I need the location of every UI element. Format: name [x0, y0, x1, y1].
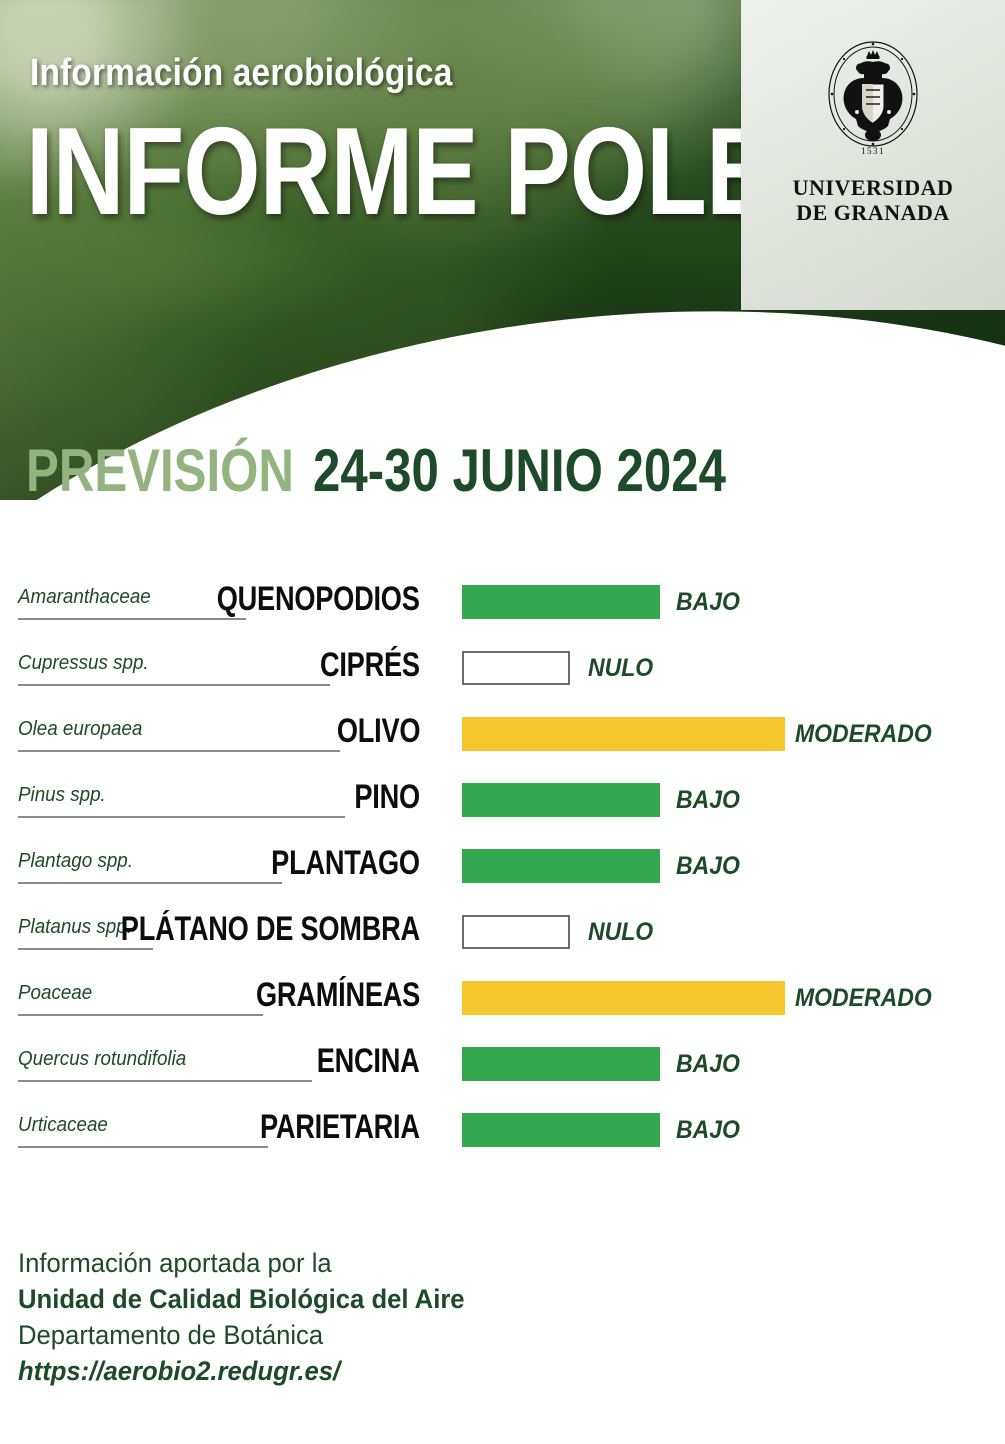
- pollen-row: Quercus rotundifoliaENCINABAJO: [0, 1040, 1005, 1106]
- pollen-level-label: NULO: [588, 654, 653, 683]
- common-name: ENCINA: [317, 1042, 420, 1081]
- pollen-level-bar: [462, 1047, 660, 1081]
- common-name: CIPRÉS: [320, 646, 420, 685]
- row-divider-rule: [18, 1080, 312, 1082]
- footer-line-department: Departamento de Botánica: [18, 1318, 465, 1354]
- university-logo-panel: 1531 UNIVERSIDAD DE GRANADA: [741, 0, 1005, 310]
- footer-line-provided-by: Información aportada por la: [18, 1246, 465, 1282]
- forecast-date-range: 24-30 JUNIO 2024: [313, 436, 726, 505]
- pollen-level-label: BAJO: [676, 1116, 740, 1145]
- pollen-level-label: BAJO: [676, 588, 740, 617]
- scientific-name: Olea europaea: [18, 718, 142, 741]
- row-divider-rule: [18, 684, 330, 686]
- pollen-row: Plantago spp.PLANTAGOBAJO: [0, 842, 1005, 908]
- footer-website-link[interactable]: https://aerobio2.redugr.es/: [18, 1354, 465, 1390]
- row-divider-rule: [18, 882, 282, 884]
- common-name: OLIVO: [337, 712, 420, 751]
- scientific-name: Pinus spp.: [18, 784, 106, 807]
- common-name: PLÁTANO DE SOMBRA: [121, 910, 420, 949]
- pollen-row: UrticaceaePARIETARIABAJO: [0, 1106, 1005, 1172]
- pollen-row: PoaceaeGRAMÍNEASMODERADO: [0, 974, 1005, 1040]
- scientific-name: Cupressus spp.: [18, 652, 149, 675]
- pollen-level-bar: [462, 849, 660, 883]
- row-divider-rule: [18, 816, 345, 818]
- common-name: PLANTAGO: [271, 844, 420, 883]
- pollen-row: Pinus spp.PINOBAJO: [0, 776, 1005, 842]
- pollen-report-poster: Información aerobiológica INFORME POLEN: [0, 0, 1005, 1444]
- pollen-level-bar: [462, 717, 785, 751]
- pollen-level-label: NULO: [588, 918, 653, 947]
- footer-line-unit: Unidad de Calidad Biológica del Aire: [18, 1282, 465, 1318]
- row-divider-rule: [18, 1146, 268, 1148]
- forecast-heading: PREVISIÓN 24-30 JUNIO 2024: [26, 436, 816, 505]
- footer-credits: Información aportada por la Unidad de Ca…: [18, 1246, 488, 1390]
- common-name: QUENOPODIOS: [217, 580, 420, 619]
- common-name: PINO: [354, 778, 420, 817]
- pollen-row: AmaranthaceaeQUENOPODIOSBAJO: [0, 578, 1005, 644]
- common-name: PARIETARIA: [260, 1108, 420, 1147]
- pollen-row: Olea europaeaOLIVOMODERADO: [0, 710, 1005, 776]
- pollen-row: Cupressus spp.CIPRÉSNULO: [0, 644, 1005, 710]
- scientific-name: Platanus spp.: [18, 916, 132, 939]
- scientific-name: Poaceae: [18, 982, 92, 1005]
- scientific-name: Amaranthaceae: [18, 586, 151, 609]
- pollen-level-bar: [462, 915, 570, 949]
- pollen-list: AmaranthaceaeQUENOPODIOSBAJOCupressus sp…: [0, 578, 1005, 1172]
- row-divider-rule: [18, 750, 340, 752]
- ugr-crest-icon: 1531: [814, 34, 932, 162]
- pollen-row: Platanus spp.PLÁTANO DE SOMBRANULO: [0, 908, 1005, 974]
- scientific-name: Plantago spp.: [18, 850, 133, 873]
- university-name-line1: UNIVERSIDAD: [793, 176, 954, 201]
- header-subtitle: Información aerobiológica: [30, 52, 452, 95]
- row-divider-rule: [18, 1014, 263, 1016]
- pollen-level-bar: [462, 1113, 660, 1147]
- pollen-level-label: MODERADO: [795, 720, 932, 749]
- pollen-level-bar: [462, 783, 660, 817]
- university-name-line2: DE GRANADA: [793, 201, 954, 226]
- common-name: GRAMÍNEAS: [256, 976, 420, 1015]
- pollen-level-label: MODERADO: [795, 984, 932, 1013]
- row-divider-rule: [18, 618, 246, 620]
- scientific-name: Urticaceae: [18, 1114, 108, 1137]
- svg-text:1531: 1531: [861, 146, 885, 156]
- forecast-label: PREVISIÓN: [26, 436, 294, 505]
- pollen-level-label: BAJO: [676, 852, 740, 881]
- scientific-name: Quercus rotundifolia: [18, 1048, 186, 1071]
- pollen-level-bar: [462, 981, 785, 1015]
- pollen-level-label: BAJO: [676, 1050, 740, 1079]
- university-name: UNIVERSIDAD DE GRANADA: [793, 176, 954, 225]
- pollen-level-label: BAJO: [676, 786, 740, 815]
- pollen-level-bar: [462, 585, 660, 619]
- page-title: INFORME POLEN: [26, 110, 842, 234]
- pollen-level-bar: [462, 651, 570, 685]
